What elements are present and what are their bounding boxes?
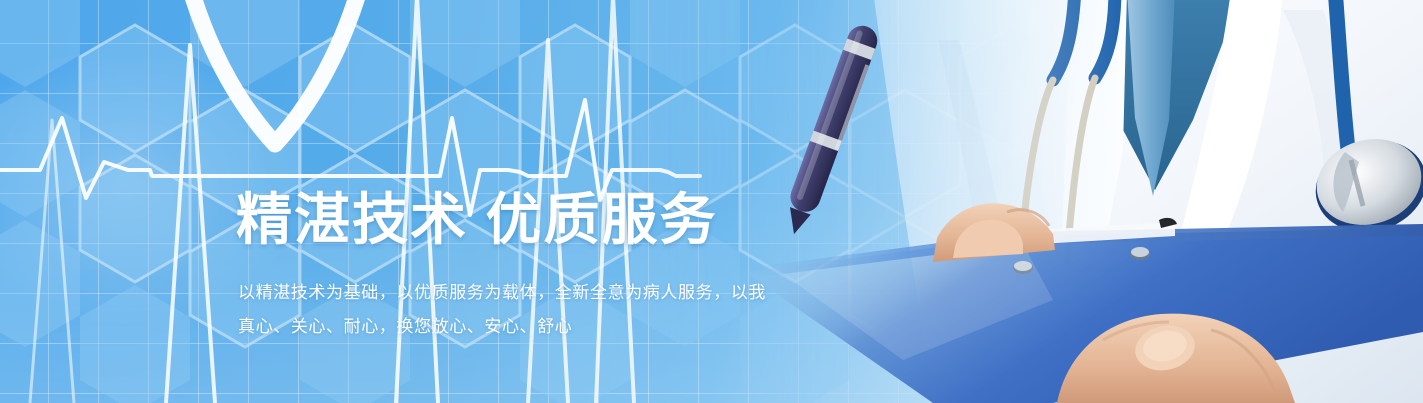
banner-copy: 精湛技术 优质服务 以精湛技术为基础，以优质服务为载体，全新全意为病人服务，以我… [236,190,856,344]
banner-subtitle: 以精湛技术为基础，以优质服务为载体，全新全意为病人服务，以我真心、关心、耐心，换… [238,276,768,344]
medical-hero-banner: 精湛技术 优质服务 以精湛技术为基础，以优质服务为载体，全新全意为病人服务，以我… [0,0,1423,403]
page-title: 精湛技术 优质服务 [236,190,856,250]
medical-shield-cross-icon [150,0,400,162]
